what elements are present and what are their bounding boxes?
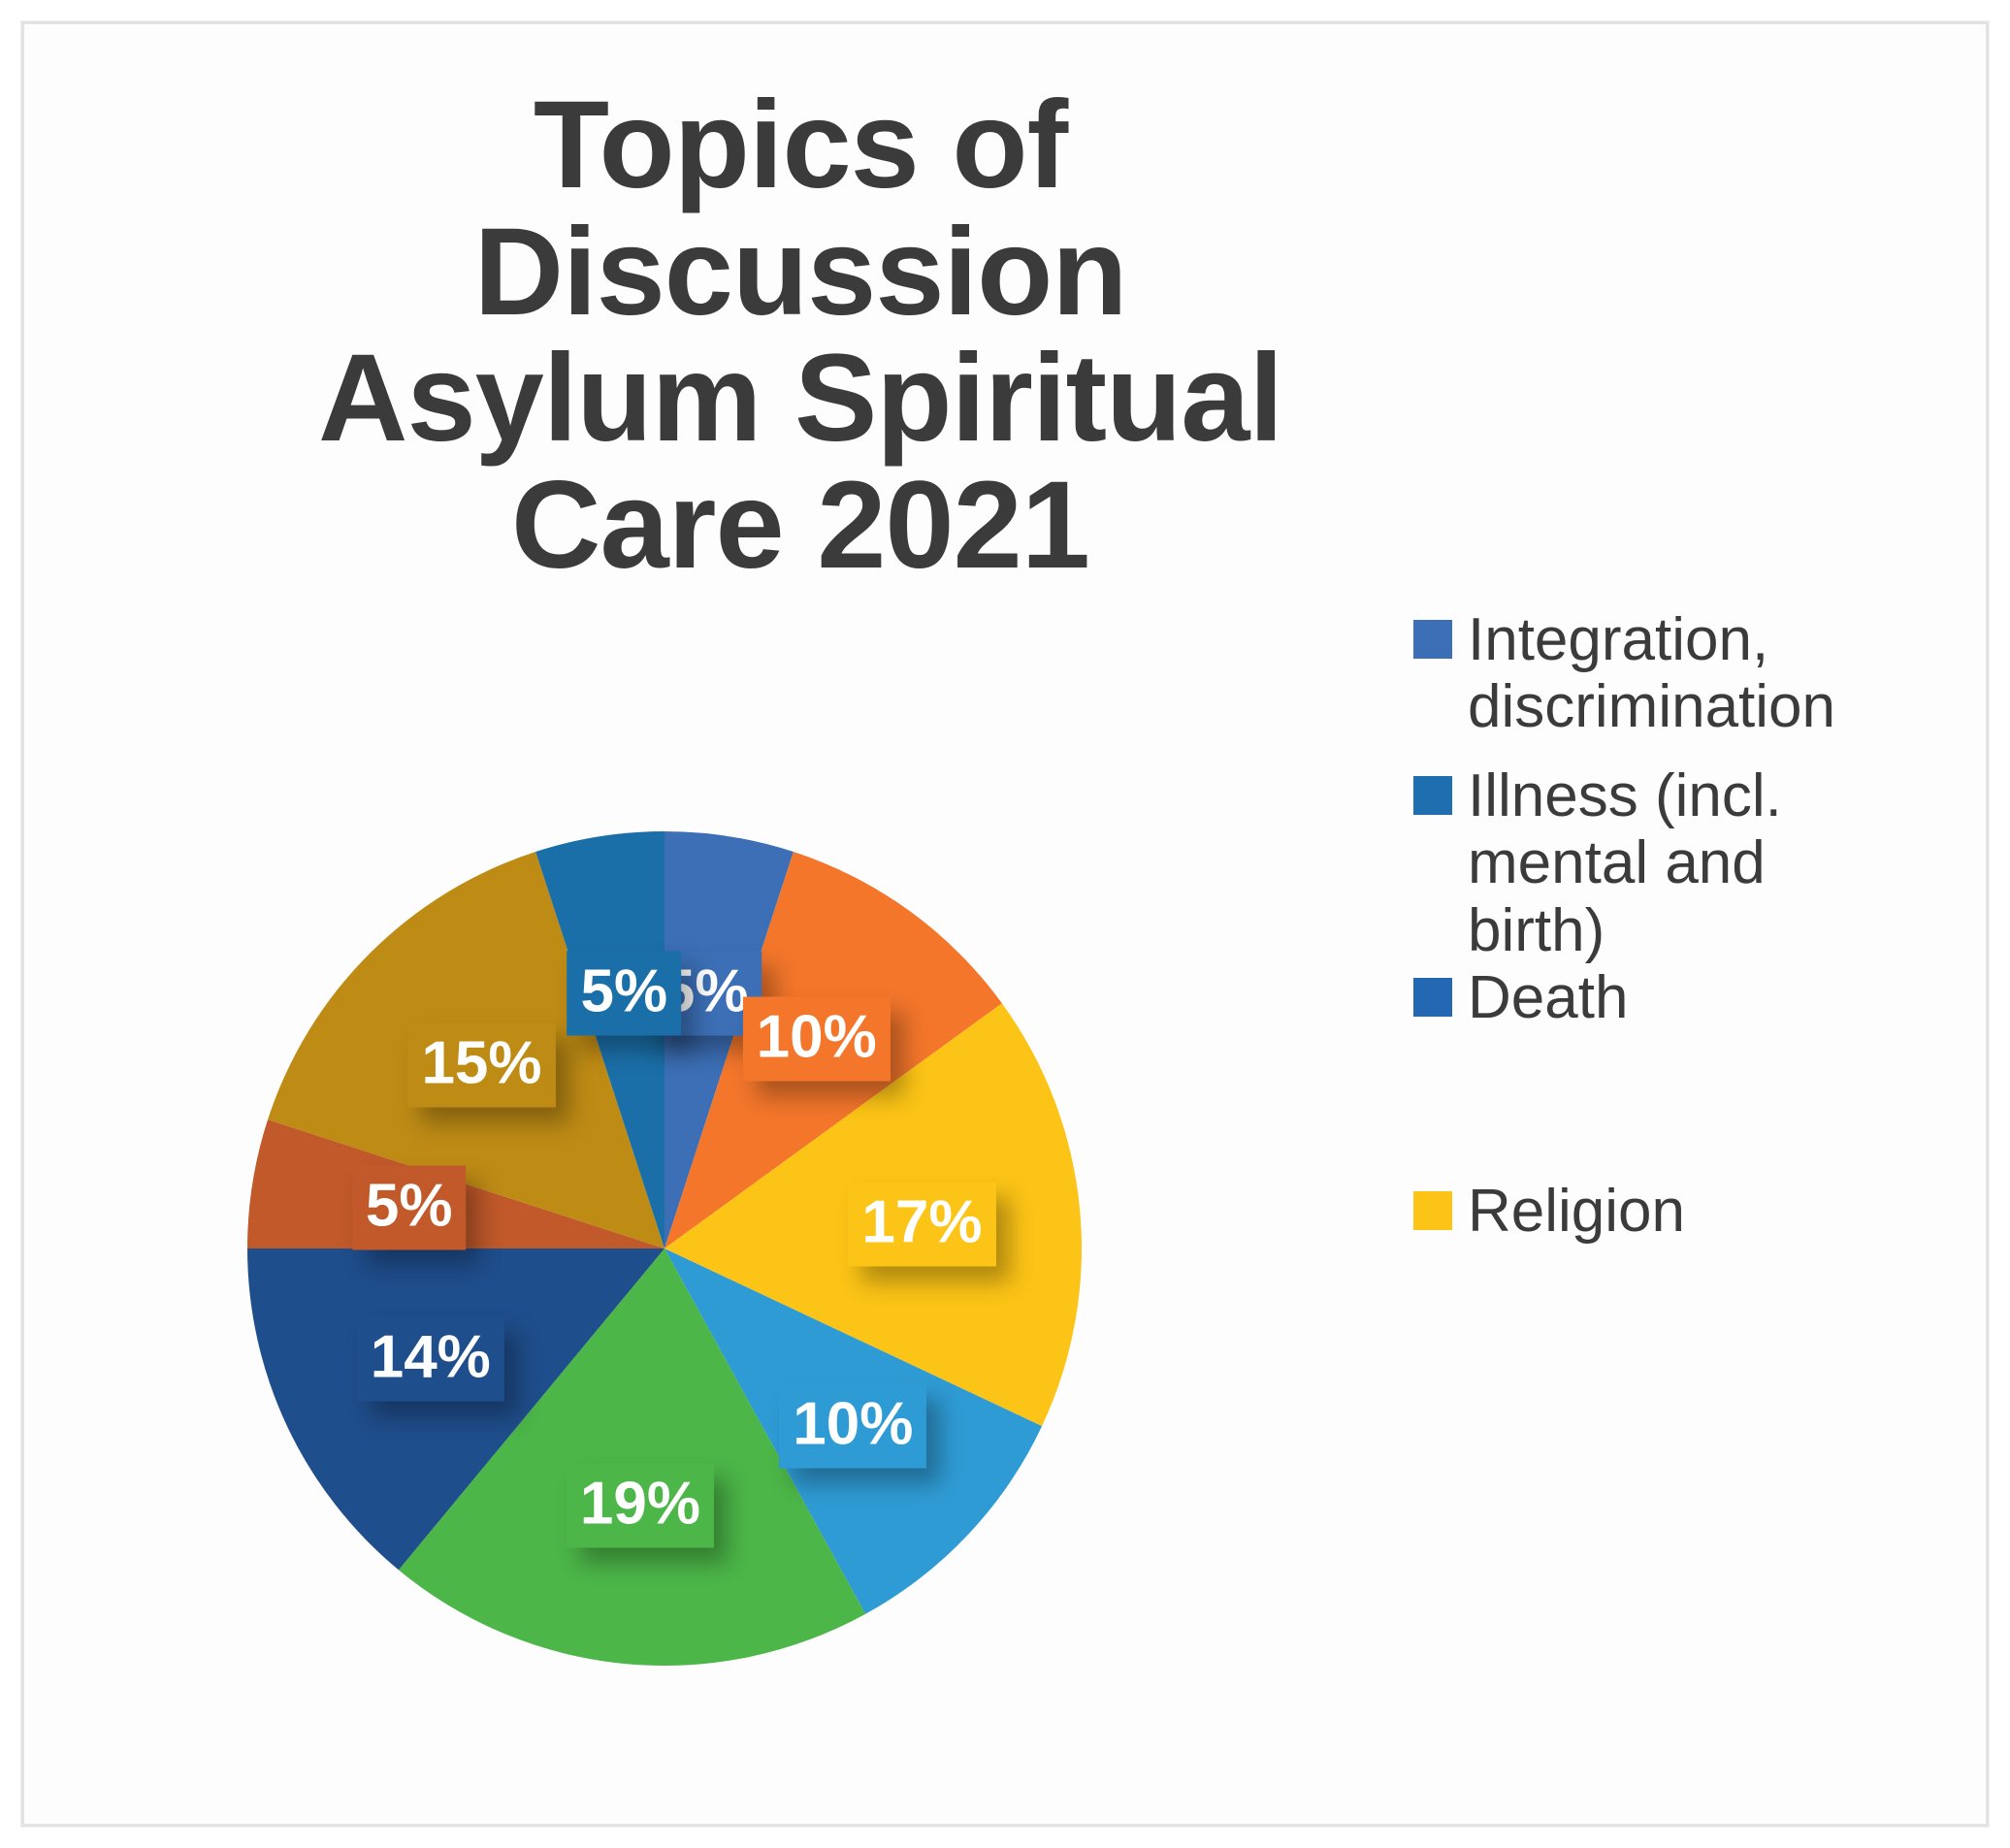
chart-frame: Topics of Discussion Asylum Spiritual Ca… [21, 21, 1989, 1827]
pie-chart: 5%10%17%10%19%14%5%15%5% [247, 831, 1082, 1666]
pie-slice-label: 5% [567, 951, 681, 1035]
pie-slice-label: 19% [567, 1464, 714, 1548]
legend-item[interactable]: Religion [1413, 1178, 1995, 1245]
legend-item-label: Illness (incl. mental and birth) [1468, 762, 1782, 964]
color-swatch-icon [1413, 620, 1452, 659]
pie-slice-label: 14% [357, 1316, 504, 1401]
color-swatch-icon [1413, 978, 1452, 1017]
pie-slice-label: 10% [743, 997, 891, 1082]
legend-item-label: Religion [1468, 1178, 1685, 1245]
legend-item-label: Integration, discrimination [1468, 606, 1835, 741]
chart-title: Topics of Discussion Asylum Spiritual Ca… [199, 82, 1402, 589]
pie-slice-label: 17% [848, 1182, 995, 1266]
legend-item[interactable]: Illness (incl. mental and birth) [1413, 762, 1995, 964]
pie-slice-label: 15% [407, 1023, 555, 1108]
color-swatch-icon [1413, 776, 1452, 815]
legend-item[interactable]: Integration, discrimination [1413, 606, 1995, 741]
color-swatch-icon [1413, 1191, 1452, 1230]
legend-item[interactable]: Death [1413, 964, 1995, 1031]
pie-slice-label: 5% [352, 1166, 467, 1250]
pie-slice-label: 10% [779, 1383, 926, 1468]
chart-legend: Integration, discriminationIllness (incl… [1413, 606, 1995, 1245]
legend-item-label: Death [1468, 964, 1628, 1031]
